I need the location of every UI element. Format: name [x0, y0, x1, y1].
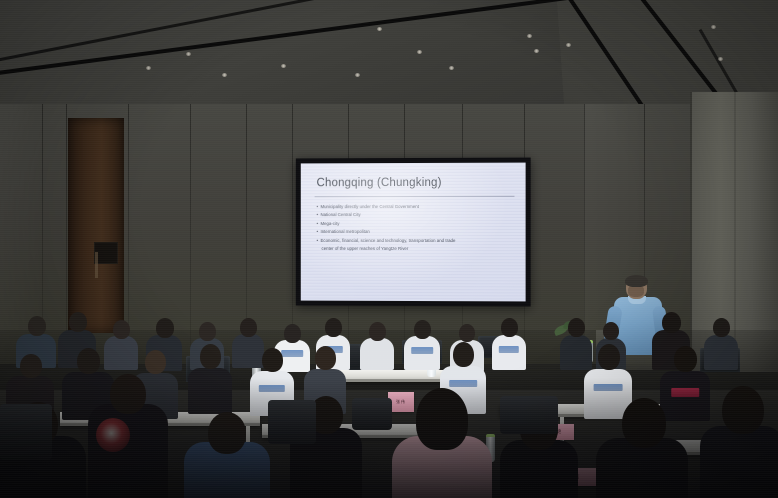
chair — [0, 404, 52, 460]
door-handle[interactable] — [95, 252, 98, 278]
audience-member-foreground — [596, 398, 688, 498]
chair — [352, 398, 392, 430]
slide-bullet: National Central City — [317, 211, 516, 220]
lecture-hall-photo: Chongqing (Chungking) Municipality direc… — [0, 0, 778, 498]
slide-bullet: International metropolitan — [317, 228, 516, 236]
audience-member — [404, 320, 440, 368]
audience-member — [188, 344, 232, 412]
slide-title-rule — [315, 196, 515, 197]
slide-bullet-continuation: center of the upper reaches of Yangtze R… — [317, 245, 516, 254]
audience-member-foreground — [184, 412, 270, 498]
door[interactable] — [68, 118, 124, 333]
chair — [500, 396, 558, 434]
yin-yang-graphic — [96, 418, 130, 452]
audience-member-foreground — [700, 386, 778, 498]
slide-bullet: Municipality directly under the Central … — [317, 203, 516, 212]
projection-screen: Chongqing (Chungking) Municipality direc… — [296, 158, 531, 307]
audience-member-foreground — [392, 388, 492, 498]
slide-bullet: Mega-city — [317, 220, 516, 228]
slide-bullet-list: Municipality directly under the Central … — [317, 203, 516, 254]
slide-bullet: Economic, financial, science and technol… — [317, 237, 516, 246]
slide-surface: Chongqing (Chungking) Municipality direc… — [301, 163, 526, 302]
slide-title: Chongqing (Chungking) — [317, 177, 442, 189]
chair — [268, 400, 316, 444]
audience-member — [492, 318, 526, 368]
audience-member — [360, 322, 394, 368]
audience-member-foreground — [88, 374, 168, 498]
